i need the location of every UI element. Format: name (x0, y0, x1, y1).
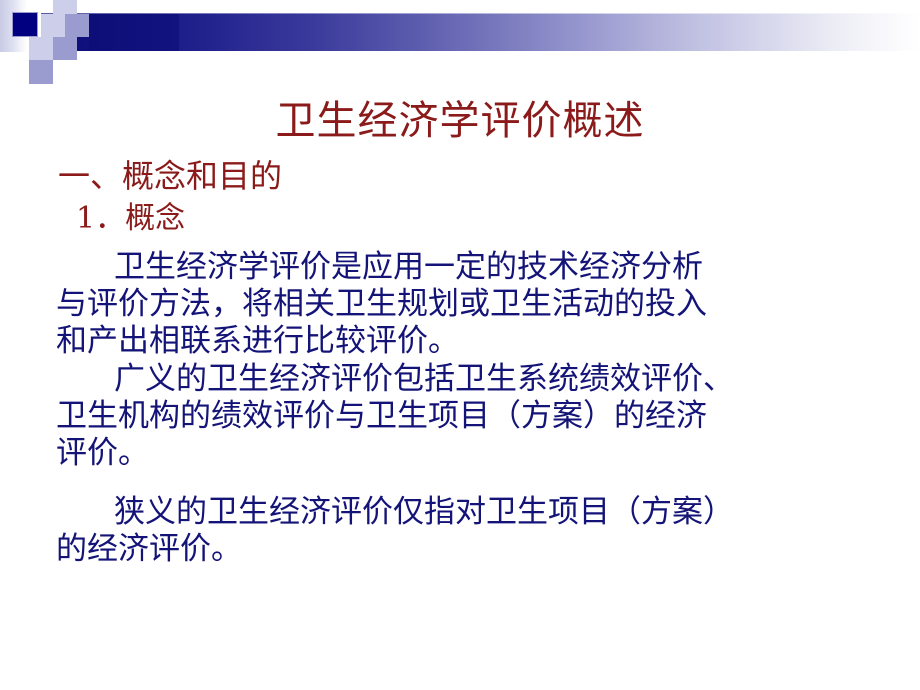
decoration-square-periwinkle-lower (53, 37, 77, 60)
decoration-square-navy (13, 13, 37, 36)
decoration-bar-front-navy (89, 14, 179, 51)
paragraph-line: 与评价方法，将相关卫生规划或卫生活动的投入 (56, 286, 920, 323)
paragraph-line: 卫生经济学评价是应用一定的技术经济分析 (56, 249, 920, 286)
paragraph-line: 和产出相联系进行比较评价。 (56, 323, 920, 360)
paragraph-line: 评价。 (56, 435, 920, 472)
slide-title: 卫生经济学评价概述 (0, 97, 920, 145)
body-paragraph: 卫生经济学评价是应用一定的技术经济分析 与评价方法，将相关卫生规划或卫生活动的投… (56, 249, 920, 360)
paragraph-line: 狭义的卫生经济评价仅指对卫生项目（方案） (56, 494, 920, 531)
decoration-gradient-bar (53, 14, 920, 51)
section-heading-level-2: 1．概念 (76, 200, 185, 238)
decoration-square-periwinkle-upper (65, 14, 89, 37)
decoration-square-periwinkle-bottom (29, 60, 53, 84)
decoration-square-pale-upper (41, 14, 65, 37)
header-decoration (0, 0, 920, 70)
paragraph-line: 卫生机构的绩效评价与卫生项目（方案）的经济 (56, 398, 920, 435)
decoration-square-pale-lower (29, 37, 53, 60)
paragraph-line: 广义的卫生经济评价包括卫生系统绩效评价、 (56, 361, 920, 398)
decoration-square-pale-top (53, 0, 77, 14)
slide-canvas: 卫生经济学评价概述 一、概念和目的 1．概念 卫生经济学评价是应用一定的技术经济… (0, 0, 920, 690)
section-heading-level-1: 一、概念和目的 (58, 156, 282, 196)
body-paragraph: 狭义的卫生经济评价仅指对卫生项目（方案） 的经济评价。 (56, 494, 920, 568)
body-paragraph: 广义的卫生经济评价包括卫生系统绩效评价、 卫生机构的绩效评价与卫生项目（方案）的… (56, 361, 920, 472)
paragraph-line: 的经济评价。 (56, 531, 920, 568)
